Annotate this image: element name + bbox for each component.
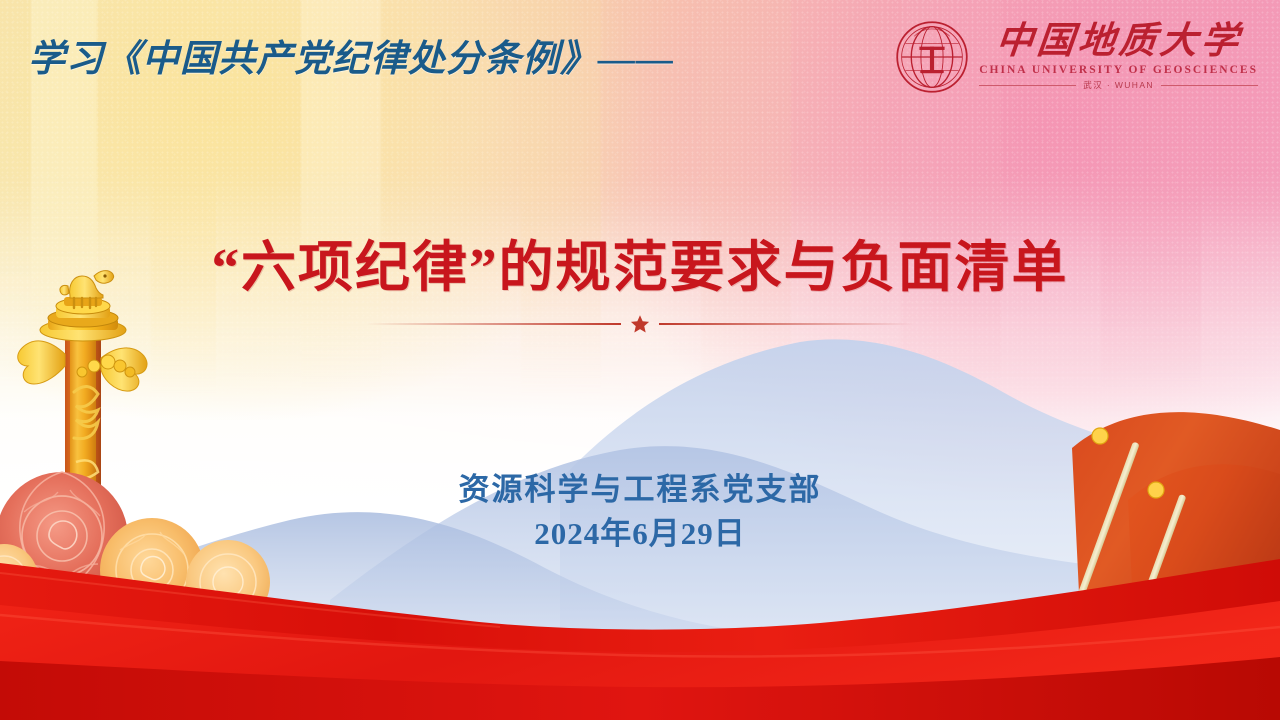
divider-line-left	[366, 323, 621, 325]
logo-name-en: CHINA UNIVERSITY OF GEOSCIENCES	[979, 64, 1258, 76]
main-title: “六项纪律”的规范要求与负面清单	[0, 222, 1280, 302]
divider-line-right	[659, 323, 914, 325]
university-seal-icon	[895, 20, 969, 94]
red-star-icon	[630, 314, 650, 334]
title-divider	[330, 314, 950, 334]
red-silk-ribbon-icon	[0, 545, 1280, 720]
logo-campus: 武汉 · WUHAN	[1083, 79, 1154, 91]
presentation-title-slide: 学习《中国共产党纪律处分条例》—— 中国地质大学 CHINA UNIVERSIT…	[0, 0, 1280, 720]
logo-rule-left	[979, 85, 1076, 86]
logo-name-cn: 中国地质大学	[994, 23, 1244, 62]
university-logo: 中国地质大学 CHINA UNIVERSITY OF GEOSCIENCES 武…	[895, 20, 1258, 94]
logo-rule-right	[1161, 85, 1258, 86]
page-title-header: 学习《中国共产党纪律处分条例》——	[28, 28, 674, 82]
logo-campus-row: 武汉 · WUHAN	[979, 79, 1258, 91]
